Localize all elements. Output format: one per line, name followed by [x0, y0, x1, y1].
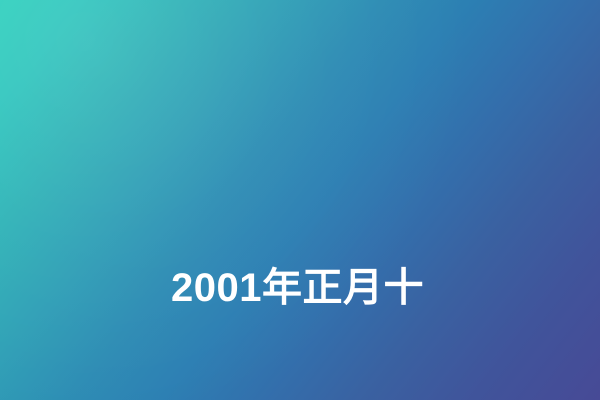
banner-title: 2001年正月十 一生日星座运势	[171, 148, 471, 400]
title-banner: 2001年正月十 一生日星座运势	[0, 0, 600, 400]
banner-title-line-1: 2001年正月十	[171, 260, 471, 316]
